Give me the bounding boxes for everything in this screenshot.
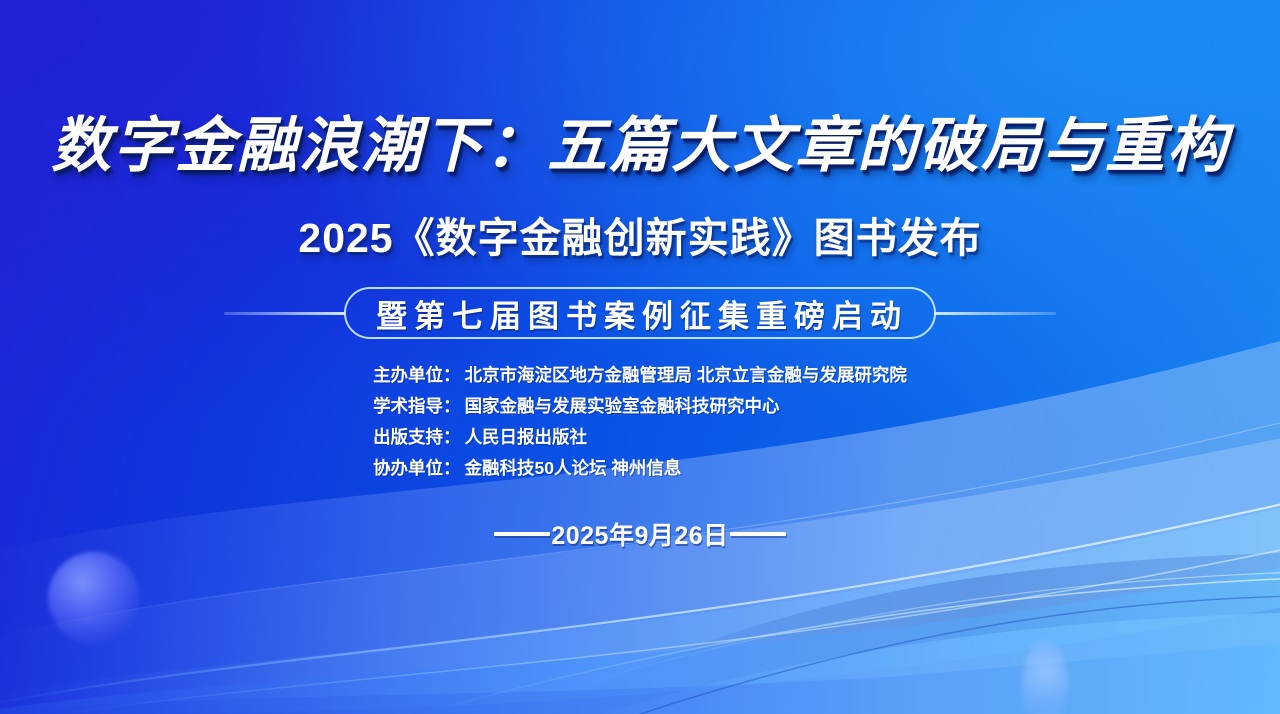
main-title: 数字金融浪潮下：五篇大文章的破局与重构 — [0, 108, 1280, 184]
event-poster: 数字金融浪潮下：五篇大文章的破局与重构 2025《数字金融创新实践》图书发布 暨… — [0, 0, 1280, 714]
banner-rule-left — [224, 312, 346, 315]
organizer-block: 主办单位：北京市海淀区地方金融管理局 北京立言金融与发展研究院 学术指导：国家金… — [373, 360, 907, 484]
banner-pill: 暨第七届图书案例征集重磅启动 — [344, 287, 936, 339]
organizer-line: 协办单位：金融科技50人论坛 神州信息 — [373, 453, 907, 484]
organizer-value: 金融科技50人论坛 神州信息 — [465, 458, 682, 478]
poster-content: 数字金融浪潮下：五篇大文章的破局与重构 2025《数字金融创新实践》图书发布 暨… — [0, 0, 1280, 714]
banner-text: 暨第七届图书案例征集重磅启动 — [372, 291, 908, 336]
organizer-list: 主办单位：北京市海淀区地方金融管理局 北京立言金融与发展研究院 学术指导：国家金… — [0, 360, 1280, 484]
organizer-line: 主办单位：北京市海淀区地方金融管理局 北京立言金融与发展研究院 — [373, 360, 907, 391]
date-dash-left — [494, 532, 550, 536]
organizer-label: 学术指导： — [373, 396, 461, 416]
date-dash-right — [730, 532, 786, 536]
banner-rule-right — [934, 312, 1056, 315]
banner-row: 暨第七届图书案例征集重磅启动 — [0, 286, 1280, 340]
event-date: 2025年9月26日 — [550, 516, 729, 552]
organizer-label: 出版支持： — [373, 427, 461, 447]
organizer-value: 北京市海淀区地方金融管理局 北京立言金融与发展研究院 — [465, 365, 907, 385]
organizer-label: 主办单位： — [373, 365, 461, 385]
date-row: 2025年9月26日 — [0, 516, 1280, 552]
organizer-line: 学术指导：国家金融与发展实验室金融科技研究中心 — [373, 391, 907, 422]
organizer-line: 出版支持：人民日报出版社 — [373, 422, 907, 453]
organizer-value: 国家金融与发展实验室金融科技研究中心 — [465, 396, 780, 416]
organizer-value: 人民日报出版社 — [465, 427, 588, 447]
organizer-label: 协办单位： — [373, 458, 461, 478]
subtitle: 2025《数字金融创新实践》图书发布 — [0, 212, 1280, 264]
